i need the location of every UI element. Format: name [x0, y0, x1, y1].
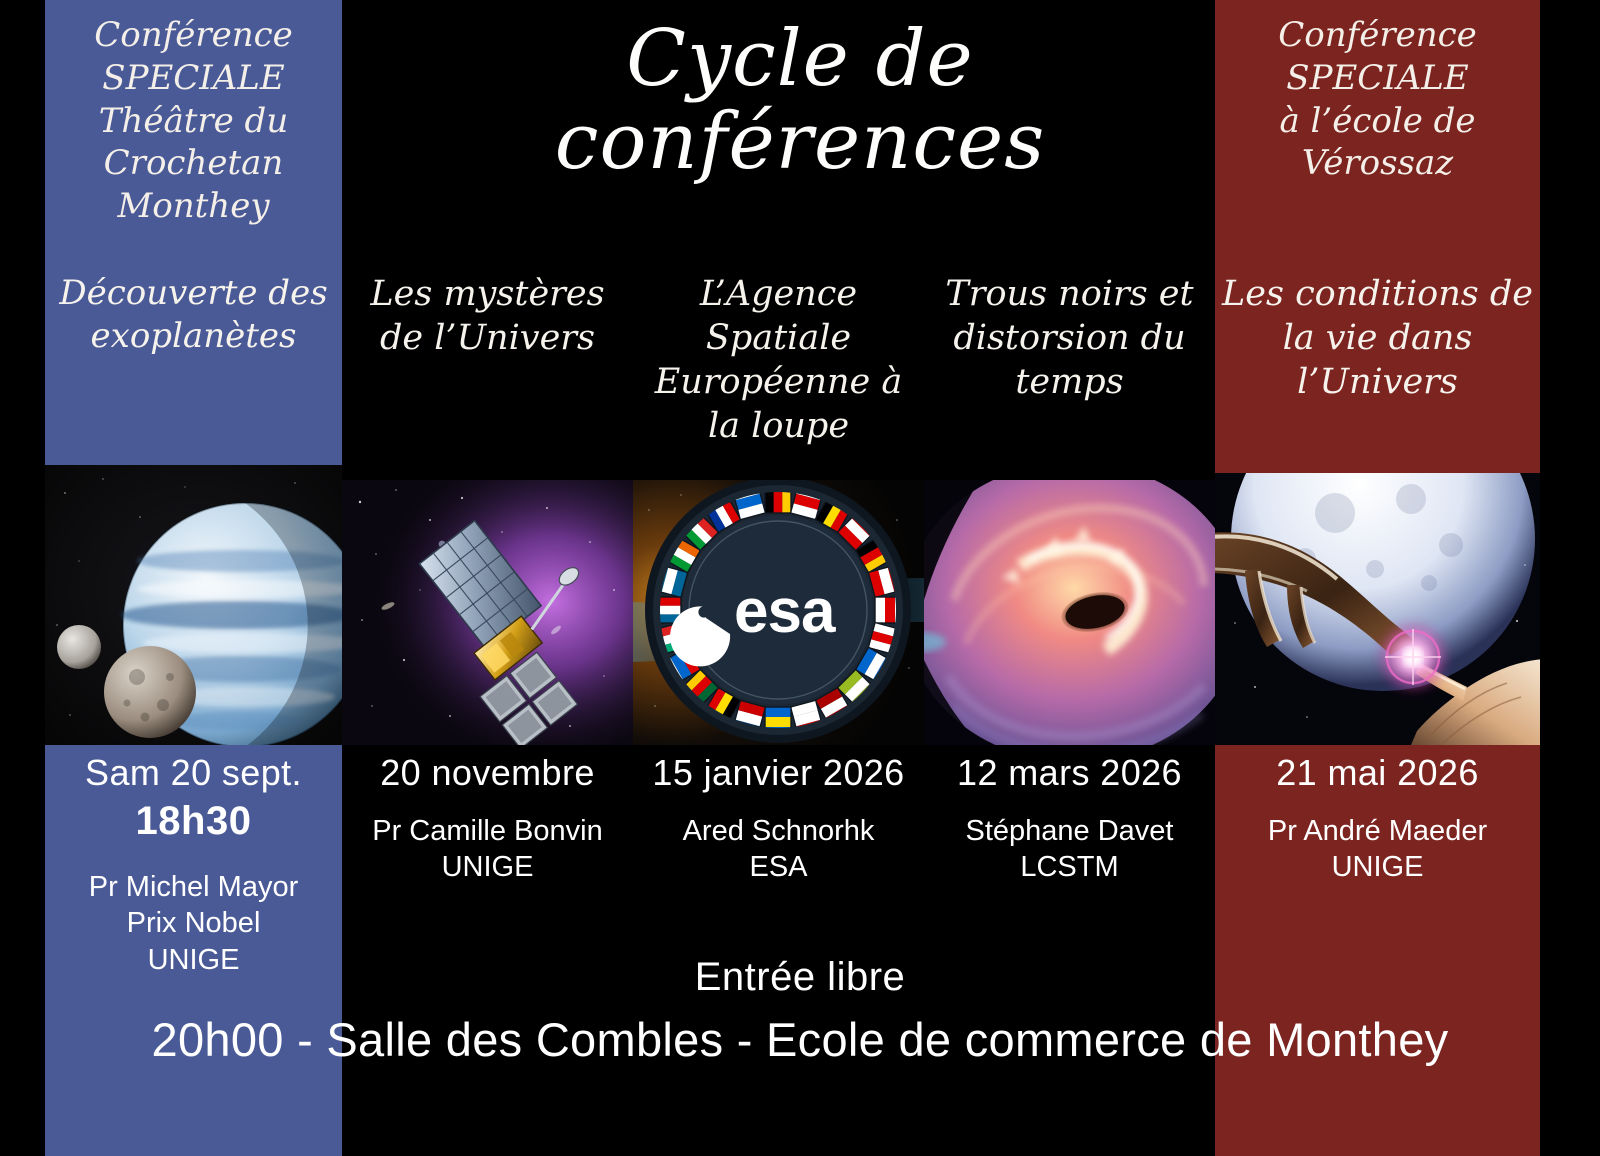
conference-speaker: Ared Schnorhk ESA	[637, 813, 920, 886]
conference-speaker: Stéphane Davet LCSTM	[928, 813, 1211, 886]
special-left-line3: Théâtre du	[45, 100, 342, 143]
main-title-line1: Cycle de	[430, 18, 1170, 101]
special-left-line2: SPECIALE	[45, 57, 342, 100]
conference-speaker: Pr Camille Bonvin UNIGE	[346, 813, 629, 886]
special-left-line5: Monthey	[45, 185, 342, 228]
conference-meta: 12 mars 2026 Stéphane Davet LCSTM	[924, 750, 1215, 886]
speaker-affiliation: UNIGE	[346, 849, 629, 885]
conference-title: Les mystères de l’Univers	[342, 272, 633, 360]
special-conference-header-right: Conférence SPECIALE à l’école de Vérossa…	[1215, 14, 1540, 185]
special-right-line4: Vérossaz	[1215, 142, 1540, 185]
special-right-line3: à l’école de	[1215, 100, 1540, 143]
conference-date: Sam 20 sept.	[49, 750, 338, 795]
conference-date: 21 mai 2026	[1219, 750, 1536, 795]
main-title-line2: conférences	[430, 101, 1170, 184]
venue-line: 20h00 - Salle des Combles - Ecole de com…	[0, 1012, 1600, 1067]
conference-meta: 21 mai 2026 Pr André Maeder UNIGE	[1215, 750, 1540, 886]
speaker-name: Ared Schnorhk	[637, 813, 920, 849]
special-left-line1: Conférence	[45, 14, 342, 57]
speaker-name: Stéphane Davet	[928, 813, 1211, 849]
speaker-affiliation: UNIGE	[1219, 849, 1536, 885]
alien-and-human-hands-moon-image	[1215, 473, 1540, 745]
conference-meta: 15 janvier 2026 Ared Schnorhk ESA	[633, 750, 924, 886]
poster-main-title: Cycle de conférences	[430, 18, 1170, 183]
conference-meta: Sam 20 sept. 18h30 Pr Michel Mayor Prix …	[45, 750, 342, 978]
conference-title: Trous noirs et distorsion du temps	[924, 272, 1215, 404]
conference-poster: Conférence SPECIALE Théâtre du Crochetan…	[0, 0, 1600, 1156]
conference-time: 18h30	[49, 795, 338, 847]
exoplanet-with-moons-image	[45, 465, 342, 745]
speaker-affiliation: LCSTM	[928, 849, 1211, 885]
free-entry-label: Entrée libre	[0, 955, 1600, 1000]
speaker-note: Prix Nobel	[49, 905, 338, 941]
conference-title: Découverte des exoplanètes	[45, 272, 342, 358]
speaker-affiliation: ESA	[637, 849, 920, 885]
speaker-name: Pr André Maeder	[1219, 813, 1536, 849]
special-left-line4: Crochetan	[45, 142, 342, 185]
conference-title: Les conditions de la vie dans l’Univers	[1215, 272, 1540, 404]
special-right-line2: SPECIALE	[1215, 57, 1540, 100]
black-hole-accretion-disk-image	[924, 480, 1215, 745]
conference-speaker: Pr André Maeder UNIGE	[1219, 813, 1536, 886]
conference-meta: 20 novembre Pr Camille Bonvin UNIGE	[342, 750, 633, 886]
space-telescope-satellite-image	[342, 480, 633, 745]
speaker-name: Pr Camille Bonvin	[346, 813, 629, 849]
conference-date: 12 mars 2026	[928, 750, 1211, 795]
esa-wordmark: esa	[734, 577, 836, 646]
esa-logo-flags-image: esa	[633, 480, 924, 745]
special-conference-header-left: Conférence SPECIALE Théâtre du Crochetan…	[45, 14, 342, 228]
conference-title: L’Agence Spatiale Européenne à la loupe	[633, 272, 924, 448]
conference-date: 15 janvier 2026	[637, 750, 920, 795]
speaker-name: Pr Michel Mayor	[49, 869, 338, 905]
conference-date: 20 novembre	[346, 750, 629, 795]
special-right-line1: Conférence	[1215, 14, 1540, 57]
